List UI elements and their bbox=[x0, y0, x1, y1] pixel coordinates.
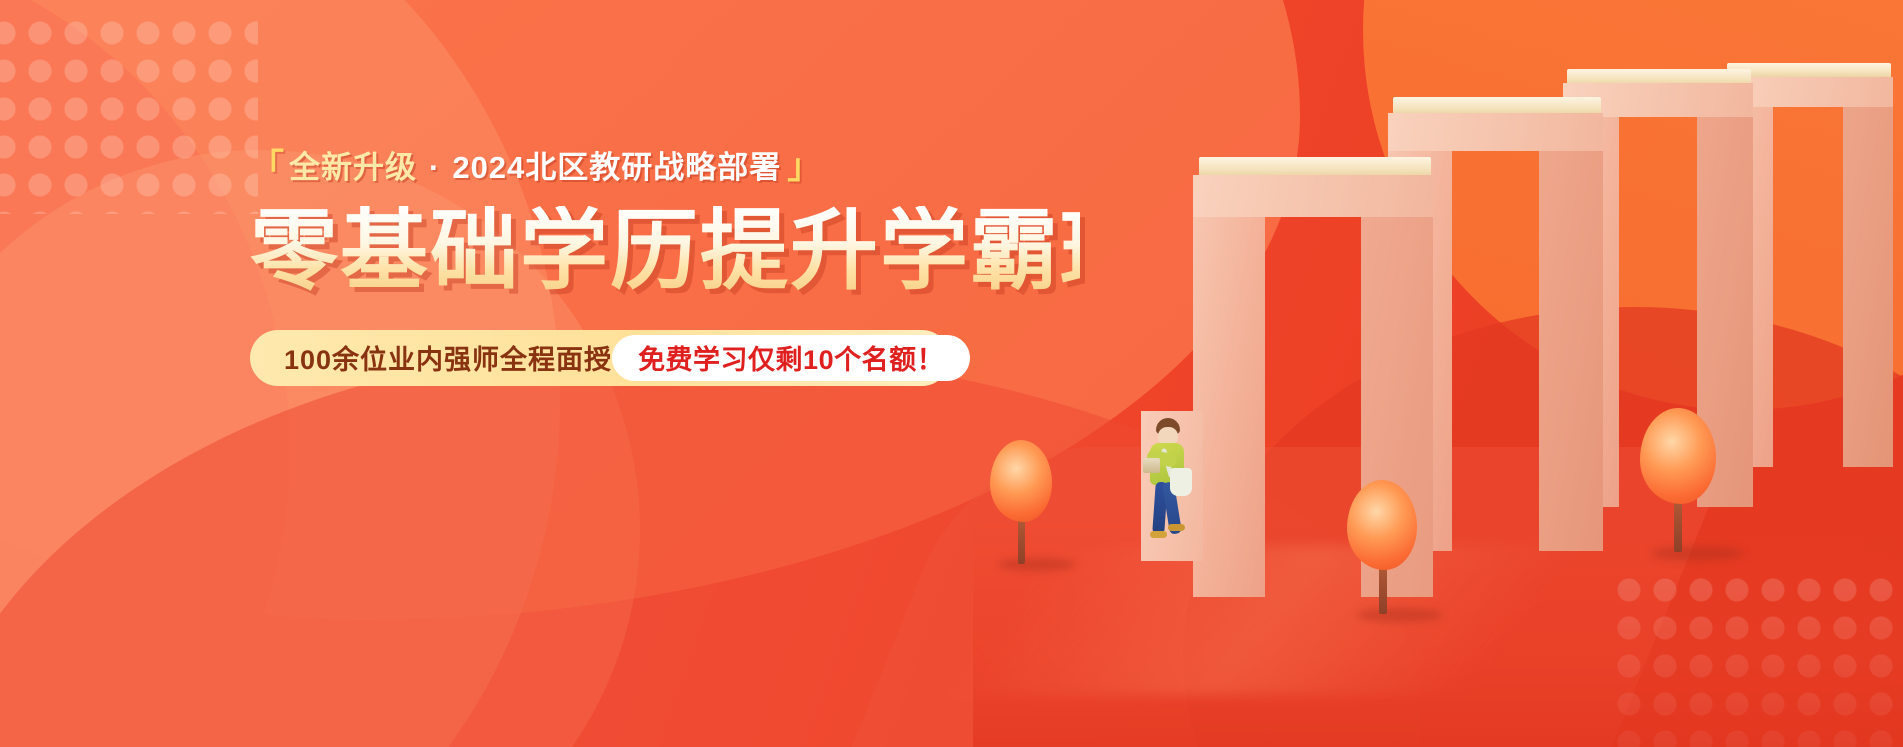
tree-crown bbox=[1640, 408, 1716, 504]
tree-crown bbox=[990, 440, 1052, 522]
tree-icon-middle bbox=[1347, 480, 1419, 630]
tree-shadow bbox=[1357, 608, 1443, 622]
banner-text-block: 「 全新升级 · 2024北区教研战略部署 」 零基础学历提升学霸班 100余位… bbox=[250, 150, 1080, 386]
tree-shadow bbox=[998, 558, 1076, 571]
student-figure-icon bbox=[1139, 418, 1201, 548]
eyebrow-separator: · bbox=[429, 152, 440, 183]
banner-headline: 零基础学历提升学霸班 bbox=[250, 206, 1080, 296]
badge-teachers-label: 100余位业内强师全程面授 bbox=[284, 338, 612, 377]
bracket-close: 」 bbox=[787, 150, 822, 184]
tree-icon-right bbox=[1640, 408, 1718, 568]
student-book bbox=[1143, 458, 1160, 473]
badge-seats-remaining[interactable]: 免费学习仅剩10个名额！ bbox=[612, 335, 970, 381]
bracket-open: 「 bbox=[250, 150, 285, 184]
eyebrow-subject: 2024北区教研战略部署 bbox=[452, 152, 781, 183]
banner-eyebrow: 「 全新升级 · 2024北区教研战略部署 」 bbox=[250, 150, 1080, 184]
tree-shadow bbox=[1652, 546, 1744, 561]
dot-pattern-bottom-right bbox=[1611, 571, 1903, 747]
student-tote-bag bbox=[1170, 468, 1192, 496]
tree-icon-left bbox=[990, 440, 1056, 580]
student-shoe-right bbox=[1168, 524, 1185, 531]
eyebrow-highlight: 全新升级 bbox=[289, 152, 417, 183]
dot-pattern-top-left bbox=[0, 14, 258, 214]
promo-banner: 「 全新升级 · 2024北区教研战略部署 」 零基础学历提升学霸班 100余位… bbox=[0, 0, 1903, 747]
student-shoe-left bbox=[1150, 531, 1167, 538]
banner-badge-bar: 100余位业内强师全程面授 免费学习仅剩10个名额！ bbox=[250, 330, 950, 386]
tree-crown bbox=[1347, 480, 1417, 570]
